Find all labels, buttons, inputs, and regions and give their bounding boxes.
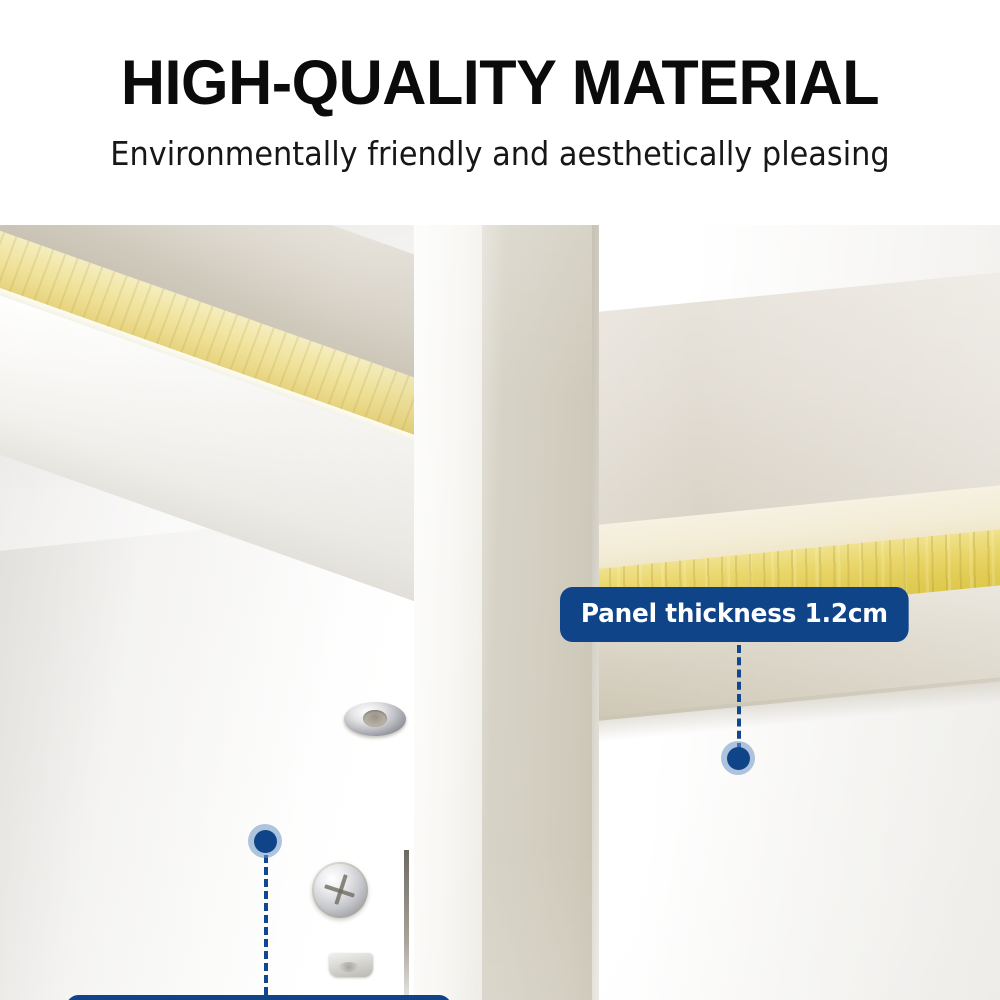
leader-dot-steel-pipe-thickness <box>248 824 282 858</box>
phillips-screw <box>312 862 368 918</box>
product-feature-poster: HIGH-QUALITY MATERIAL Environmentally fr… <box>0 0 1000 1000</box>
chrome-washer <box>344 702 406 736</box>
callout-label-steel-pipe-thickness: Steel pipe thickness 2cm <box>66 995 451 1000</box>
leader-line-steel-pipe-thickness <box>264 855 268 995</box>
header-band: HIGH-QUALITY MATERIAL Environmentally fr… <box>0 0 1000 225</box>
page-subtitle: Environmentally friendly and aesthetical… <box>40 133 960 175</box>
post-lit-face <box>414 225 482 1000</box>
page-title: HIGH-QUALITY MATERIAL <box>15 47 985 119</box>
callout-label-panel-thickness: Panel thickness 1.2cm <box>560 587 909 642</box>
leader-dot-panel-thickness <box>721 741 755 775</box>
metal-bracket <box>329 953 373 977</box>
board-post-seam <box>404 850 409 1000</box>
product-photo: Panel thickness 1.2cm Steel pipe thickne… <box>0 225 1000 1000</box>
leader-line-panel-thickness <box>737 645 741 751</box>
